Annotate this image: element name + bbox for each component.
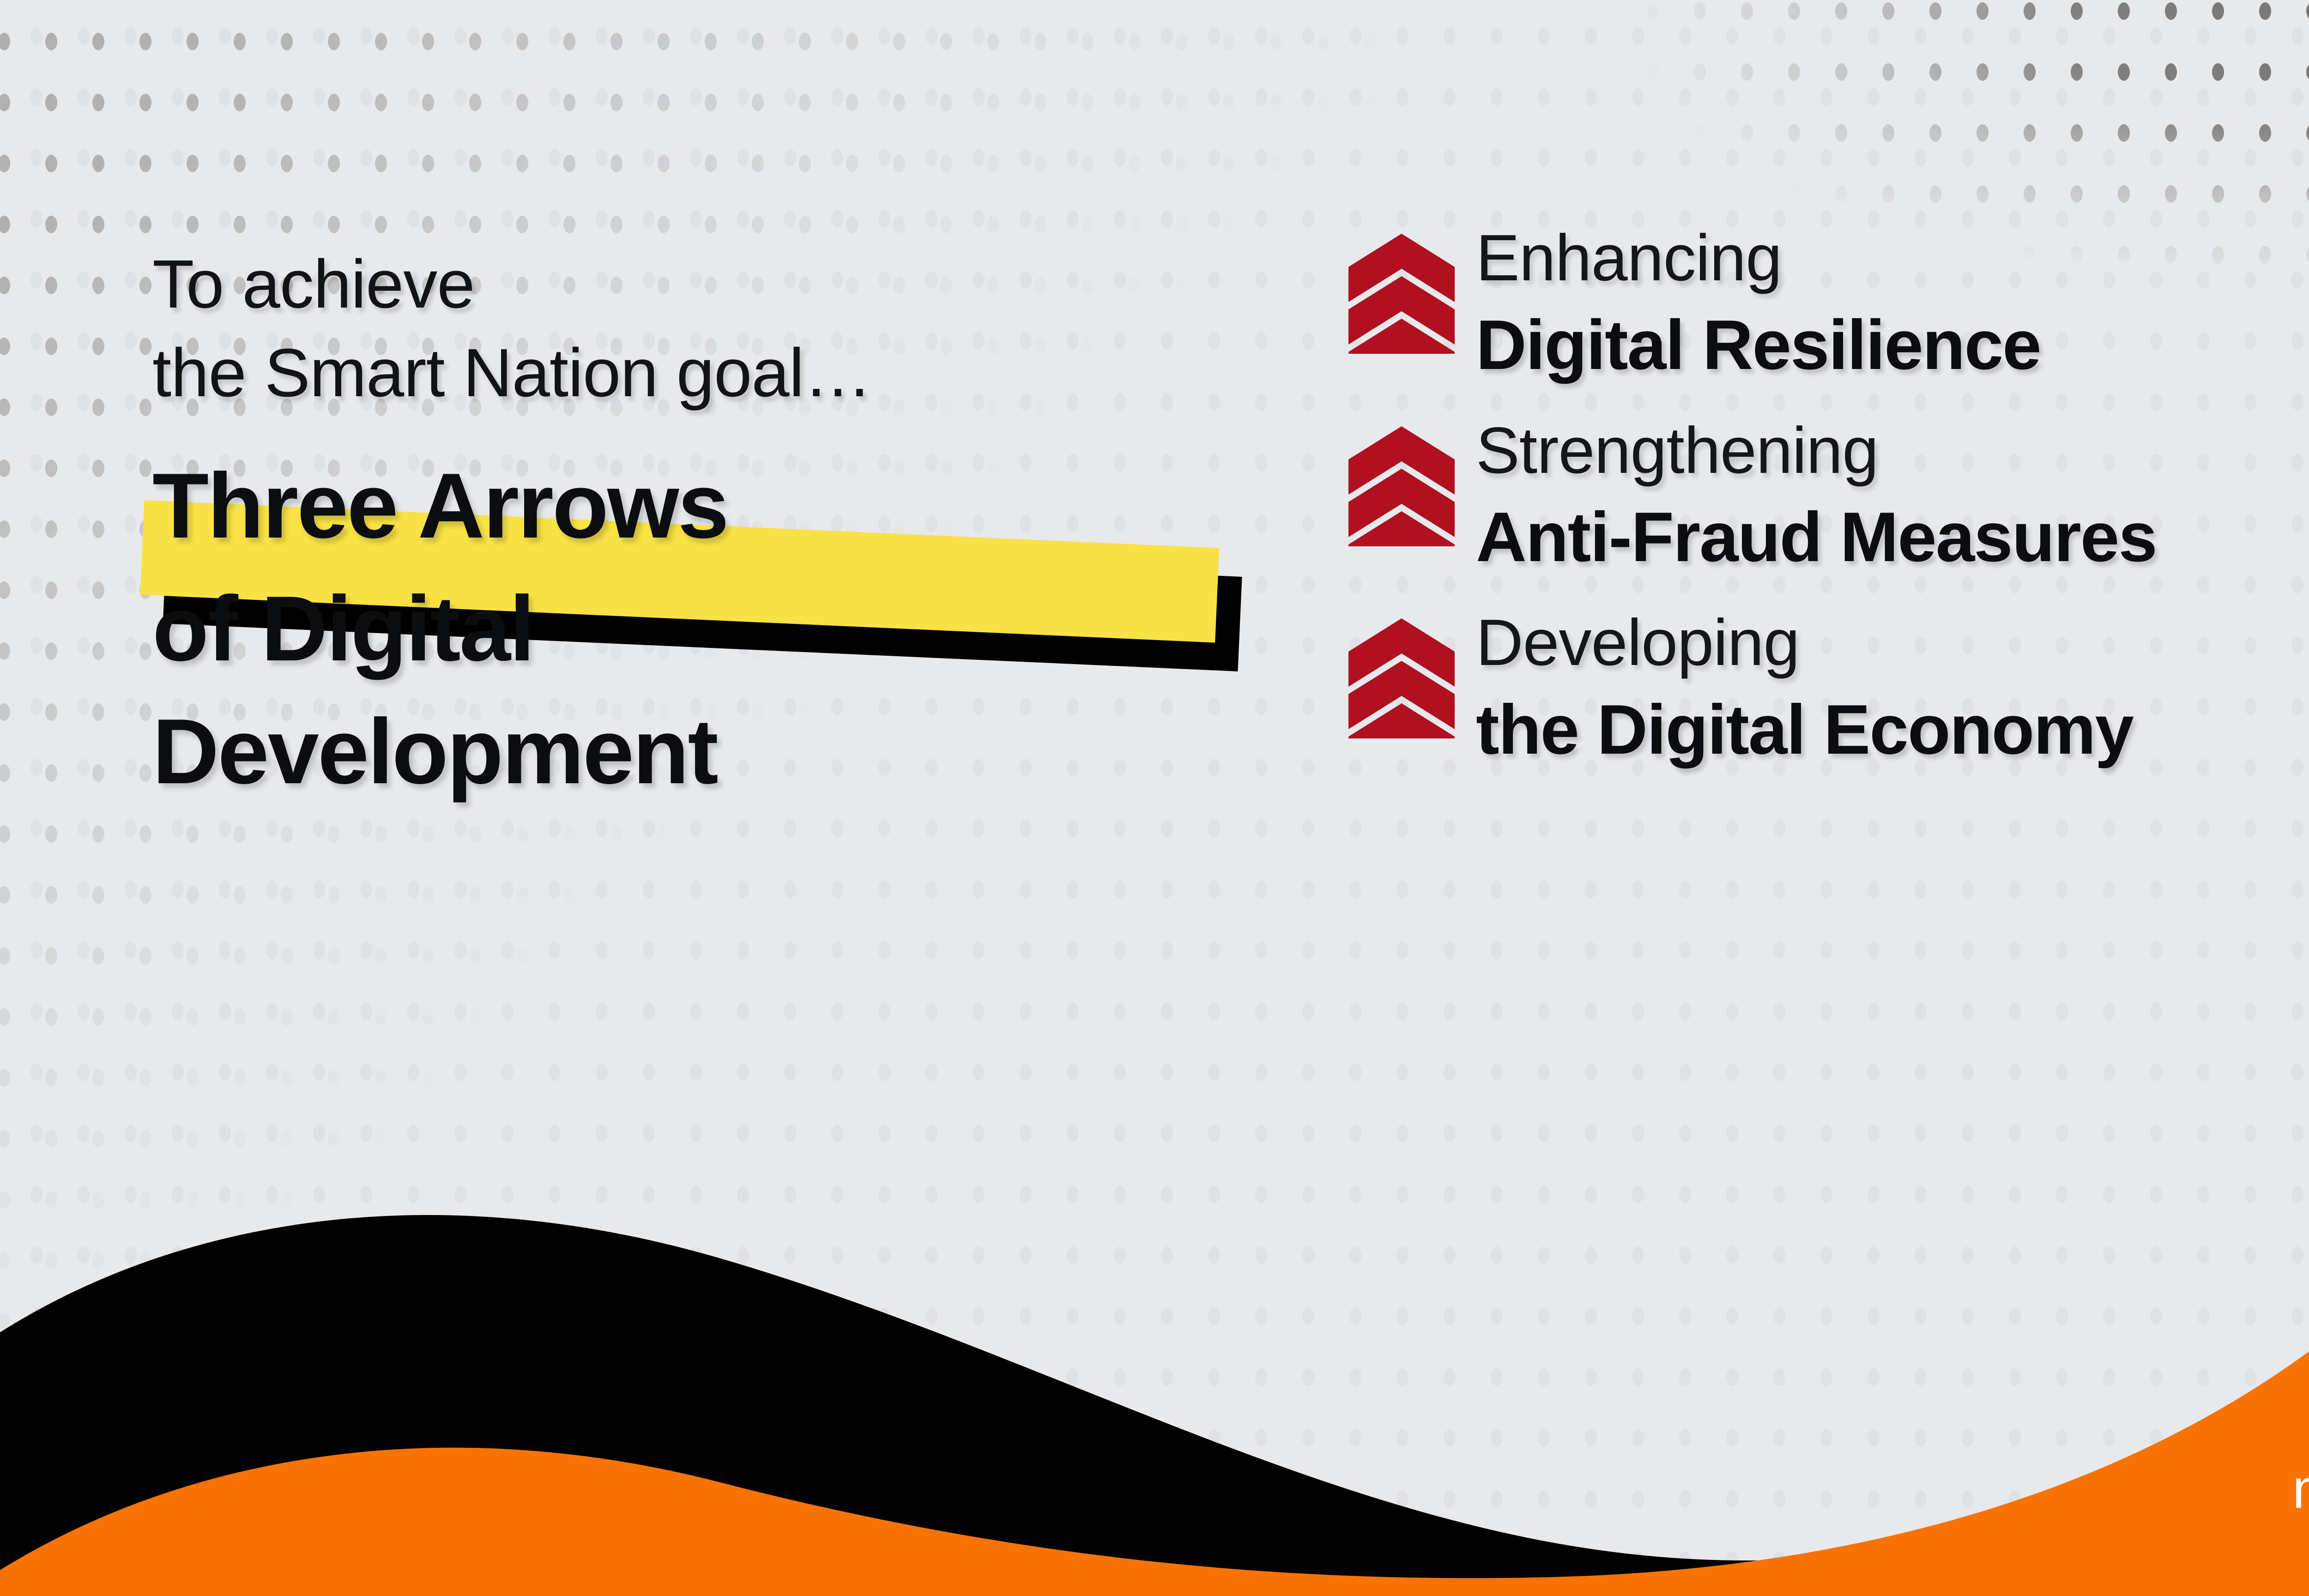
arrow-item-2: Strengthening Anti-Fraud Measures — [1348, 410, 2309, 584]
kicker-line-1: To achieve — [152, 240, 1284, 329]
arrow-item-2-verb: Strengthening — [1476, 414, 1878, 487]
triple-chevron-up-icon — [1348, 234, 1455, 356]
left-column: To achieve the Smart Nation goal… Three … — [152, 240, 1284, 813]
triple-chevron-up-icon — [1348, 426, 1455, 549]
kicker-line-2: the Smart Nation goal… — [152, 329, 1284, 417]
triple-chevron-up-icon — [1348, 618, 1455, 741]
arrow-item-1-text: Enhancing Digital Resilience — [1476, 217, 2309, 391]
right-column: Enhancing Digital Resilience Strengtheni… — [1348, 217, 2309, 794]
arrow-item-3-subject: the Digital Economy — [1476, 690, 2133, 769]
moda-logo: m o d a 數位發展部 Ministry of Digital Affair… — [2254, 1409, 2309, 1561]
headline-line-1: Three Arrows — [152, 445, 1284, 568]
infographic-poster: To achieve the Smart Nation goal… Three … — [0, 0, 2309, 1596]
headline-line-3: Development — [152, 690, 1284, 813]
arrow-item-1: Enhancing Digital Resilience — [1348, 217, 2309, 391]
headline-line-2: of Digital — [152, 568, 1284, 690]
arrow-item-1-verb: Enhancing — [1476, 221, 1782, 295]
arrow-item-3: Developing the Digital Economy — [1348, 602, 2309, 776]
arrow-item-3-text: Developing the Digital Economy — [1476, 602, 2309, 776]
arrow-item-2-text: Strengthening Anti-Fraud Measures — [1476, 410, 2309, 584]
main-headline: Three Arrows of Digital Development — [152, 445, 1284, 813]
arrow-item-3-verb: Developing — [1476, 606, 1800, 679]
logo-letter-m: m — [2292, 1458, 2309, 1520]
kicker-text: To achieve the Smart Nation goal… — [152, 240, 1284, 418]
arrow-item-1-subject: Digital Resilience — [1476, 306, 2041, 384]
arrow-item-2-subject: Anti-Fraud Measures — [1476, 498, 2157, 576]
